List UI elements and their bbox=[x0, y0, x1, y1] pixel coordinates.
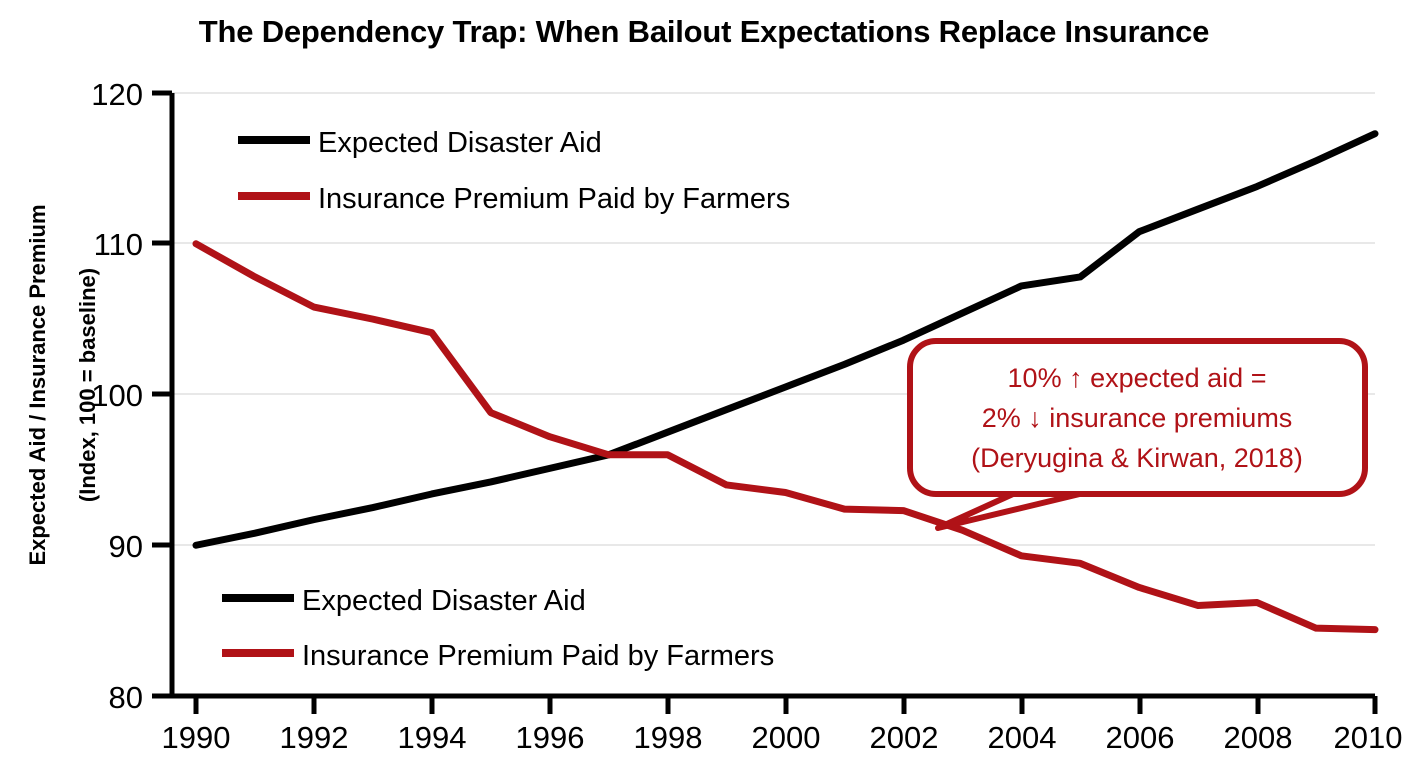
callout-line-2: 2% ↓ insurance premiums bbox=[982, 403, 1293, 433]
x-tick-label-2008: 2008 bbox=[1224, 720, 1293, 755]
plot-area: 120 110 100 90 80 1990 1992 1994 1996 bbox=[0, 0, 1408, 768]
chart-figure: The Dependency Trap: When Bailout Expect… bbox=[0, 0, 1408, 768]
x-tick-label-1990: 1990 bbox=[162, 720, 231, 755]
legend-bottom-label-premium: Insurance Premium Paid by Farmers bbox=[302, 640, 774, 672]
x-tick-label-2010: 2010 bbox=[1334, 720, 1403, 755]
x-axis-ticks bbox=[196, 696, 1375, 714]
legend-top-label-aid: Expected Disaster Aid bbox=[318, 127, 602, 159]
elasticity-callout: 10% ↑ expected aid = 2% ↓ insurance prem… bbox=[910, 341, 1365, 528]
x-tick-label-1994: 1994 bbox=[398, 720, 467, 755]
y-tick-label-80: 80 bbox=[109, 680, 143, 715]
x-axis-tick-labels: 1990 1992 1994 1996 1998 2000 2002 2004 … bbox=[162, 720, 1403, 755]
legend-bottom: Expected Disaster Aid Insurance Premium … bbox=[222, 585, 774, 672]
x-tick-label-2006: 2006 bbox=[1106, 720, 1175, 755]
y-axis-ticks bbox=[152, 93, 172, 696]
callout-line-1: 10% ↑ expected aid = bbox=[1008, 363, 1267, 393]
y-tick-label-120: 120 bbox=[91, 77, 143, 112]
callout-tail bbox=[938, 492, 1088, 528]
x-tick-label-1996: 1996 bbox=[516, 720, 585, 755]
x-tick-label-2004: 2004 bbox=[988, 720, 1057, 755]
legend-bottom-label-aid: Expected Disaster Aid bbox=[302, 585, 586, 617]
legend-top: Expected Disaster Aid Insurance Premium … bbox=[238, 127, 790, 215]
legend-top-label-premium: Insurance Premium Paid by Farmers bbox=[318, 183, 790, 215]
x-tick-label-2000: 2000 bbox=[752, 720, 821, 755]
y-tick-label-90: 90 bbox=[109, 529, 143, 564]
x-tick-label-2002: 2002 bbox=[870, 720, 939, 755]
x-tick-label-1992: 1992 bbox=[280, 720, 349, 755]
y-axis-tick-labels: 120 110 100 90 80 bbox=[91, 77, 143, 715]
x-tick-label-1998: 1998 bbox=[634, 720, 703, 755]
y-tick-label-110: 110 bbox=[94, 227, 143, 262]
y-tick-label-100: 100 bbox=[91, 378, 143, 413]
callout-line-3: (Deryugina & Kirwan, 2018) bbox=[971, 443, 1303, 473]
